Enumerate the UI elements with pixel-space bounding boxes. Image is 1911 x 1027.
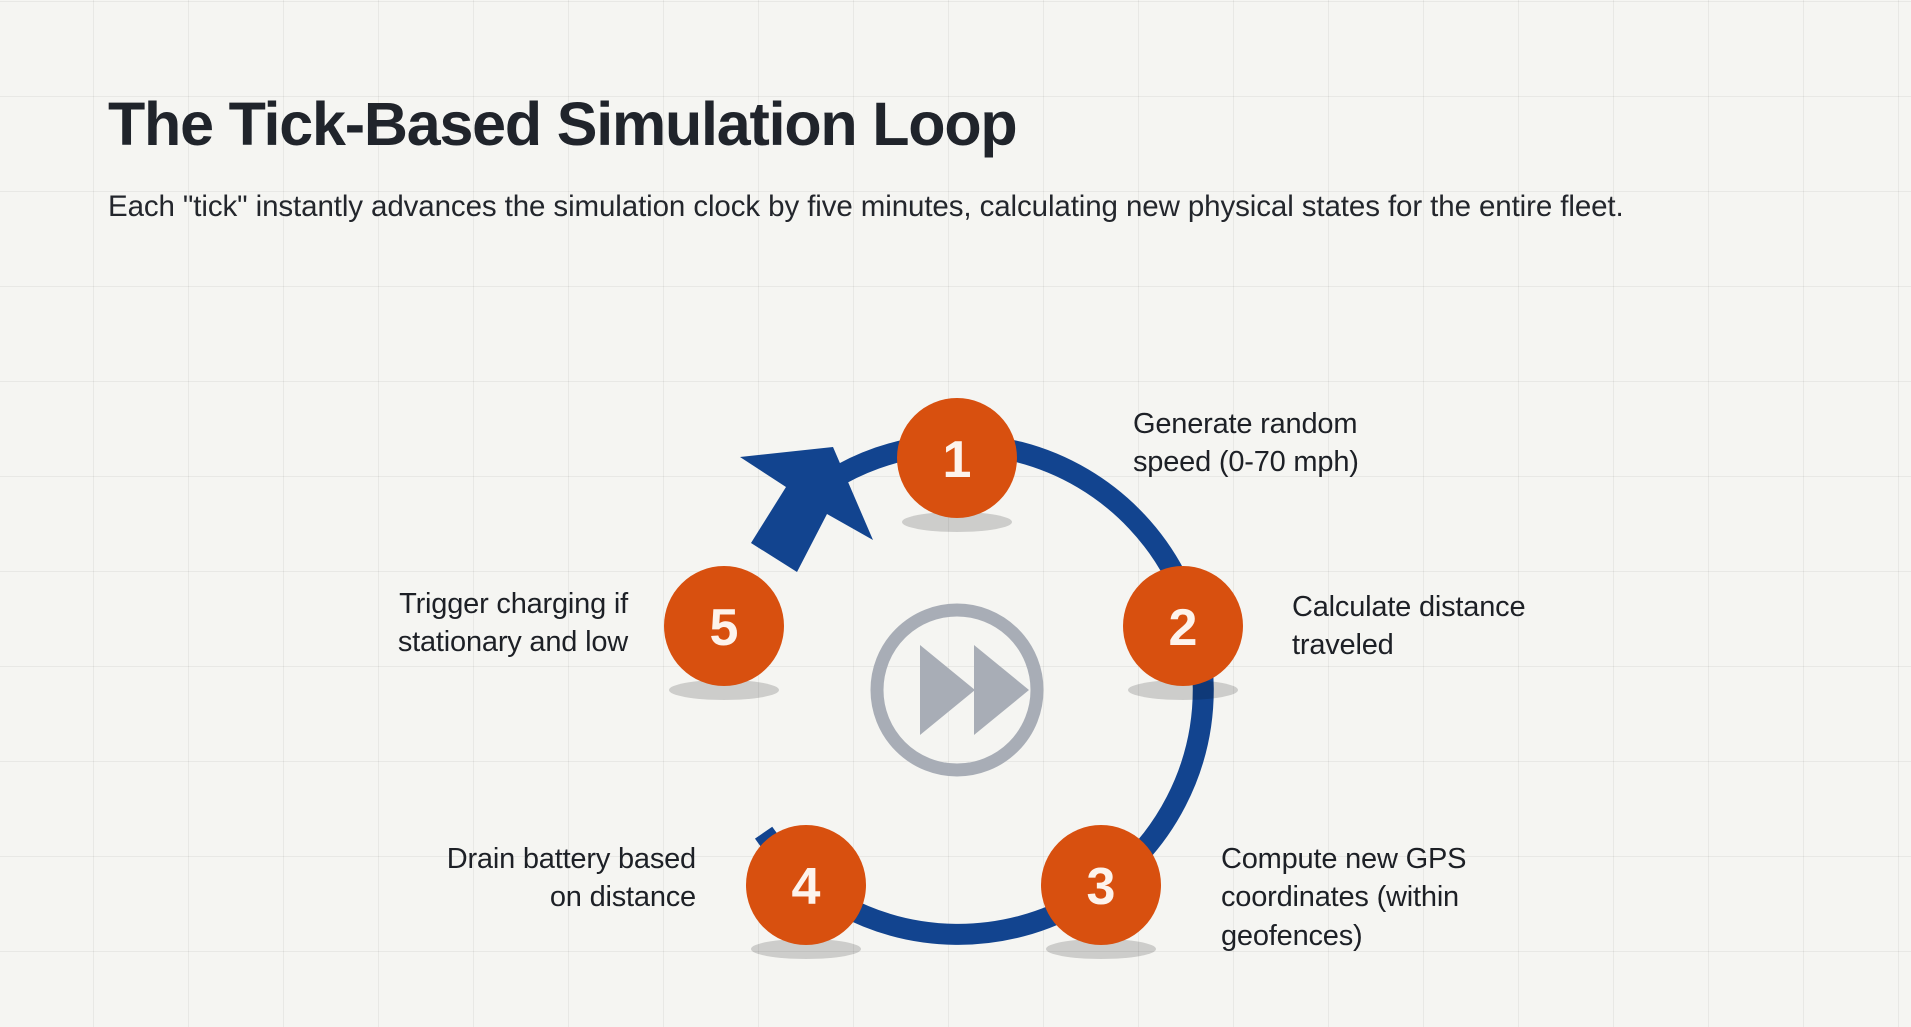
- step-node-1[interactable]: 1: [897, 398, 1017, 532]
- step-node-4-number: 4: [792, 858, 821, 916]
- step-node-3-number: 3: [1087, 858, 1116, 916]
- step-node-1-number: 1: [943, 431, 972, 489]
- fast-forward-icon: [877, 610, 1037, 770]
- loop-ring-arc: [764, 444, 1204, 934]
- step-label-2: Calculate distance traveled: [1292, 588, 1672, 665]
- header: The Tick-Based Simulation Loop Each "tic…: [108, 92, 1758, 228]
- step-label-1: Generate random speed (0-70 mph): [1133, 405, 1473, 482]
- step-node-3[interactable]: 3: [1041, 825, 1161, 959]
- step-node-5-number: 5: [710, 599, 739, 657]
- loop-arrow-icon: [740, 447, 873, 572]
- step-label-4: Drain battery based on distance: [330, 840, 696, 917]
- step-node-2[interactable]: 2: [1123, 566, 1243, 700]
- loop-ring: [764, 444, 1204, 934]
- step-node-2-number: 2: [1169, 599, 1198, 657]
- step-node-4[interactable]: 4: [746, 825, 866, 959]
- step-label-5: Trigger charging if stationary and low: [290, 585, 628, 662]
- page-subtitle: Each "tick" instantly advances the simul…: [108, 186, 1728, 228]
- step-label-3: Compute new GPS coordinates (within geof…: [1221, 840, 1621, 955]
- page-title: The Tick-Based Simulation Loop: [108, 92, 1758, 156]
- step-node-5[interactable]: 5: [664, 566, 784, 700]
